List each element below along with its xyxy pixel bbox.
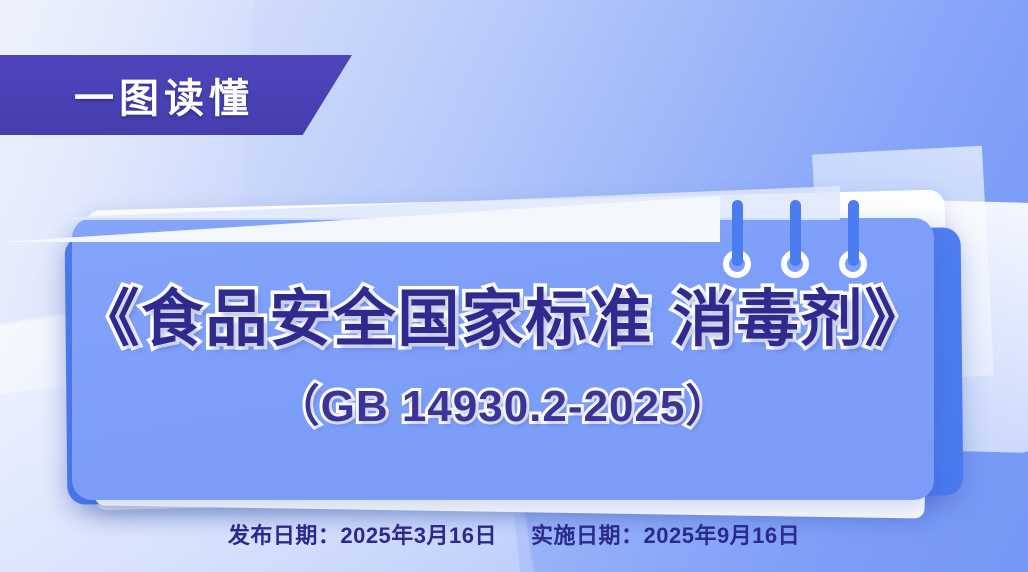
ribbon-label: 一图读懂 <box>74 66 254 124</box>
poster-canvas: 一图读懂 《食品安全国家标准 消毒剂》 （GB 14930.2-2025） 发布… <box>0 0 1028 572</box>
page-title: 《食品安全国家标准 消毒剂》 <box>77 284 928 355</box>
standard-code-subtitle: （GB 14930.2-2025） <box>276 370 731 434</box>
card-text-block: 《食品安全国家标准 消毒剂》 （GB 14930.2-2025） <box>72 218 934 500</box>
release-date-label: 发布日期：2025年3月16日 <box>228 518 497 550</box>
ribbon-banner: 一图读懂 <box>0 55 352 135</box>
effective-date-label: 实施日期：2025年9月16日 <box>531 518 800 550</box>
footer-dates: 发布日期：2025年3月16日 实施日期：2025年9月16日 <box>0 518 1028 550</box>
